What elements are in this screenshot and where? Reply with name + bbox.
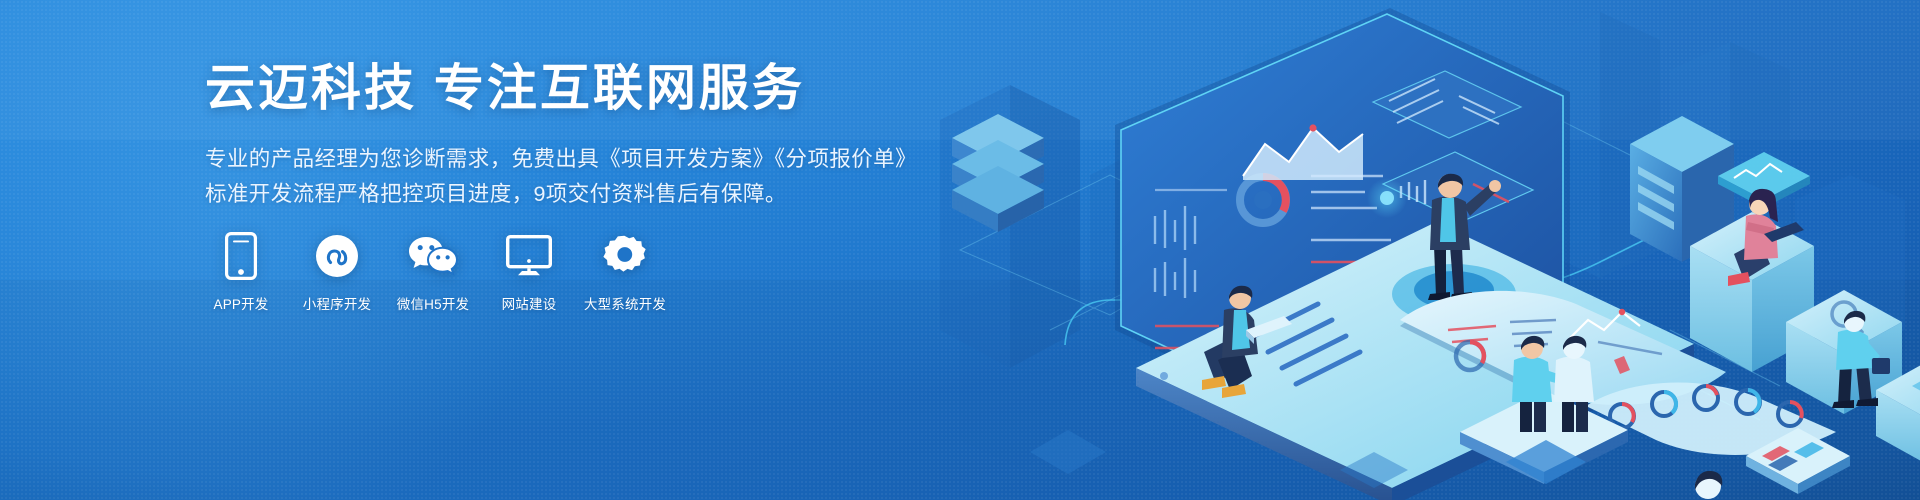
- service-label: 小程序开发: [303, 293, 372, 313]
- service-label: APP开发: [213, 293, 268, 313]
- service-label: 大型系统开发: [584, 293, 666, 313]
- subtitle-line-1: 专业的产品经理为您诊断需求，免费出具《项目开发方案》《分项报价单》: [205, 142, 1105, 177]
- promo-banner: 云迈科技 专注互联网服务 专业的产品经理为您诊断需求，免费出具《项目开发方案》《…: [0, 0, 1920, 500]
- gear-icon: [603, 232, 647, 280]
- banner-copy-block: 云迈科技 专注互联网服务 专业的产品经理为您诊断需求，免费出具《项目开发方案》《…: [205, 60, 1105, 212]
- service-item-app[interactable]: APP开发: [205, 232, 277, 313]
- service-label: 网站建设: [502, 293, 557, 313]
- mobile-phone-icon: [225, 232, 257, 280]
- service-item-mini-program[interactable]: 小程序开发: [301, 232, 373, 313]
- service-icon-row: APP开发 小程序开发 微信: [205, 232, 661, 313]
- service-item-large-system[interactable]: 大型系统开发: [589, 232, 661, 313]
- service-item-wechat-h5[interactable]: 微信H5开发: [397, 232, 469, 313]
- wechat-icon: [407, 232, 459, 280]
- desktop-monitor-icon: [506, 232, 552, 280]
- mini-program-icon: [315, 232, 359, 280]
- service-item-website[interactable]: 网站建设: [493, 232, 565, 313]
- subtitle-line-2: 标准开发流程严格把控项目进度，9项交付资料售后有保障。: [205, 177, 1105, 212]
- banner-subtitle: 专业的产品经理为您诊断需求，免费出具《项目开发方案》《分项报价单》 标准开发流程…: [205, 142, 1105, 212]
- banner-headline: 云迈科技 专注互联网服务: [205, 60, 1105, 116]
- service-label: 微信H5开发: [397, 293, 469, 313]
